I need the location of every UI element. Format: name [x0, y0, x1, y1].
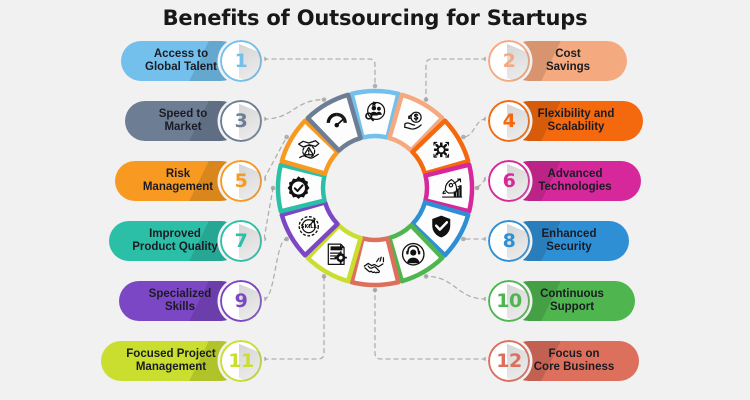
badge-number-3: 3 [235, 112, 248, 131]
badge-number-6: 6 [503, 172, 516, 191]
badge-number-9: 9 [235, 292, 248, 311]
central-wheel: SKILL [275, 88, 475, 288]
benefit-item-12[interactable]: 12 Focus on Core Business [488, 338, 639, 384]
benefit-item-6[interactable]: 6 Advanced Technologies [488, 158, 641, 204]
benefit-label-8: Enhanced Security [536, 228, 603, 255]
benefit-badge-4[interactable]: 4 [488, 100, 530, 142]
page-title: Benefits of Outsourcing for Startups [0, 6, 750, 30]
benefit-label-10: Continuous Support [534, 288, 610, 315]
badge-number-8: 8 [503, 232, 516, 251]
benefit-label-3: Speed to Market [153, 108, 214, 135]
benefit-badge-10[interactable]: 10 [488, 280, 530, 322]
benefit-badge-11[interactable]: 11 [220, 340, 262, 382]
badge-number-5: 5 [235, 172, 248, 191]
benefit-badge-6[interactable]: 6 [488, 160, 530, 202]
benefit-label-11: Focused Project Management [120, 348, 221, 375]
infographic-root: Benefits of Outsourcing for Startups [0, 0, 750, 400]
benefit-badge-12[interactable]: 12 [488, 340, 530, 382]
benefit-badge-7[interactable]: 7 [220, 220, 262, 262]
benefit-label-12: Focus on Core Business [528, 348, 621, 375]
benefit-item-9[interactable]: Specialized Skills 9 [119, 278, 262, 324]
benefit-label-6: Advanced Technologies [532, 168, 617, 195]
benefit-item-4[interactable]: 4 Flexibility and Scalability [488, 98, 643, 144]
badge-number-7: 7 [235, 232, 248, 251]
benefit-item-10[interactable]: 10 Continuous Support [488, 278, 635, 324]
benefit-badge-5[interactable]: 5 [220, 160, 262, 202]
benefit-label-9: Specialized Skills [143, 288, 218, 315]
benefit-badge-3[interactable]: 3 [220, 100, 262, 142]
benefit-label-7: Improved Product Quality [126, 228, 224, 255]
benefit-item-7[interactable]: Improved Product Quality 7 [109, 218, 262, 264]
benefit-badge-9[interactable]: 9 [220, 280, 262, 322]
benefit-label-5: Risk Management [137, 168, 219, 195]
benefit-item-11[interactable]: Focused Project Management 11 [101, 338, 262, 384]
badge-number-10: 10 [496, 292, 521, 311]
badge-number-2: 2 [503, 52, 516, 71]
badge-number-1: 1 [235, 52, 248, 71]
benefit-item-5[interactable]: Risk Management 5 [115, 158, 262, 204]
benefit-badge-2[interactable]: 2 [488, 40, 530, 82]
benefit-badge-8[interactable]: 8 [488, 220, 530, 262]
benefit-item-8[interactable]: 8 Enhanced Security [488, 218, 629, 264]
benefit-label-1: Access to Global Talent [139, 48, 223, 75]
badge-number-12: 12 [496, 352, 521, 371]
benefit-badge-1[interactable]: 1 [220, 40, 262, 82]
badge-number-4: 4 [503, 112, 516, 131]
benefit-label-4: Flexibility and Scalability [532, 108, 621, 135]
benefit-item-2[interactable]: 2 Cost Savings [488, 38, 627, 84]
badge-number-11: 11 [228, 352, 253, 371]
benefit-item-1[interactable]: Access to Global Talent 1 [121, 38, 262, 84]
benefit-label-2: Cost Savings [540, 48, 596, 75]
benefit-item-3[interactable]: Speed to Market 3 [125, 98, 262, 144]
